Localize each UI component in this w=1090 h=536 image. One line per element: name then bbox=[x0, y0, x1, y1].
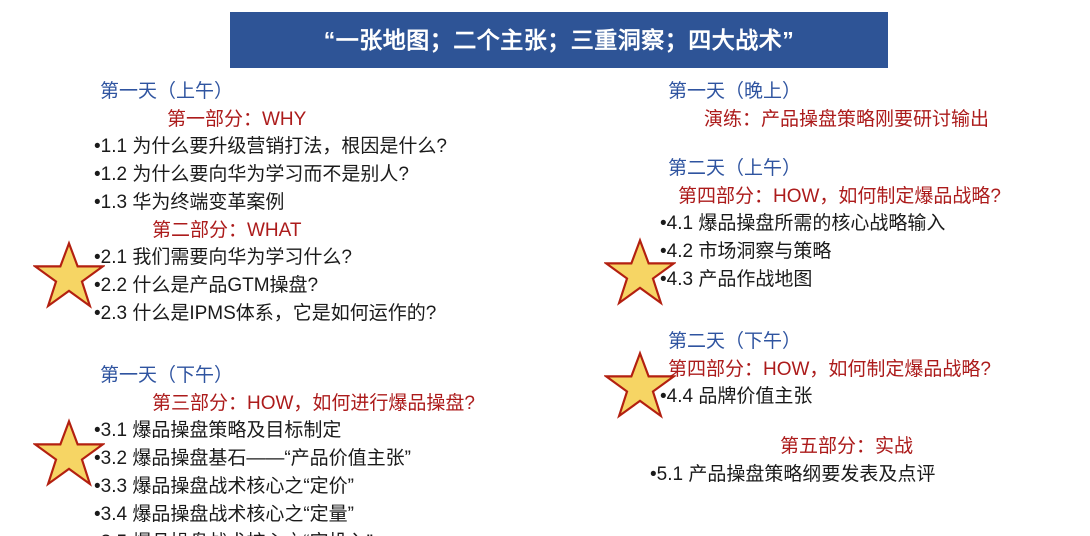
left-column: 第一天（上午） 第一部分：WHY •1.1 为什么要升级营销打法，根因是什么? … bbox=[22, 78, 542, 536]
title-banner: “一张地图；二个主张；三重洞察；四大战术” bbox=[230, 12, 888, 68]
day-heading-day1-afternoon: 第一天（下午） bbox=[100, 362, 542, 390]
spacer bbox=[600, 294, 1090, 328]
list-item: •3.3 爆品操盘战术核心之“定价” bbox=[94, 473, 542, 501]
list-item: •4.2 市场洞察与策略 bbox=[660, 238, 1090, 266]
list-item: •1.1 为什么要升级营销打法，根因是什么? bbox=[94, 133, 542, 161]
list-item: •3.5 爆品操盘战术核心之“定投入” bbox=[94, 529, 542, 536]
spacer bbox=[600, 411, 1090, 433]
block-day2-morning: 第二天（上午） 第四部分：HOW，如何制定爆品战略? •4.1 爆品操盘所需的核… bbox=[600, 155, 1090, 294]
list-item: •4.3 产品作战地图 bbox=[660, 266, 1090, 294]
list-item: •4.1 爆品操盘所需的核心战略输入 bbox=[660, 210, 1090, 238]
list-item: •4.4 品牌价值主张 bbox=[660, 383, 1090, 411]
list-item: •2.1 我们需要向华为学习什么? bbox=[94, 244, 542, 272]
page-title: “一张地图；二个主张；三重洞察；四大战术” bbox=[324, 29, 795, 52]
list-item: •2.2 什么是产品GTM操盘? bbox=[94, 272, 542, 300]
block-day1-afternoon: 第一天（下午） 第三部分：HOW，如何进行爆品操盘? •3.1 爆品操盘策略及目… bbox=[22, 362, 542, 536]
part-heading-how-strategy: 第四部分：HOW，如何制定爆品战略? bbox=[678, 183, 1090, 211]
block-day1-morning: 第一天（上午） 第一部分：WHY •1.1 为什么要升级营销打法，根因是什么? … bbox=[22, 78, 542, 328]
spacer bbox=[22, 328, 542, 362]
list-item: •1.3 华为终端变革案例 bbox=[94, 189, 542, 217]
slide-canvas: “一张地图；二个主张；三重洞察；四大战术” 第一天（上午） 第一部分：WHY •… bbox=[0, 0, 1090, 536]
list-item: •2.3 什么是IPMS体系，它是如何运作的? bbox=[94, 300, 542, 328]
list-item: •5.1 产品操盘策略纲要发表及点评 bbox=[650, 461, 1090, 489]
block-day2-afternoon: 第二天（下午） 第四部分：HOW，如何制定爆品战略? •4.4 品牌价值主张 第… bbox=[600, 328, 1090, 488]
day-heading-day1-morning: 第一天（上午） bbox=[100, 78, 542, 106]
right-column: 第一天（晚上） 演练：产品操盘策略刚要研讨输出 第二天（上午） 第四部分：HOW… bbox=[600, 78, 1090, 488]
part-heading-practice: 第五部分：实战 bbox=[780, 433, 1090, 461]
list-item: •3.2 爆品操盘基石——“产品价值主张” bbox=[94, 445, 542, 473]
day-heading-day2-morning: 第二天（上午） bbox=[668, 155, 1090, 183]
list-item: •1.2 为什么要向华为学习而不是别人? bbox=[94, 161, 542, 189]
part-heading-drill: 演练：产品操盘策略刚要研讨输出 bbox=[704, 106, 1090, 134]
list-item: •3.1 爆品操盘策略及目标制定 bbox=[94, 417, 542, 445]
part-heading-how-strategy-2: 第四部分：HOW，如何制定爆品战略? bbox=[668, 356, 1090, 384]
day-heading-day1-evening: 第一天（晚上） bbox=[668, 78, 1090, 106]
part-heading-why: 第一部分：WHY bbox=[167, 106, 542, 134]
part-heading-how-operate: 第三部分：HOW，如何进行爆品操盘? bbox=[152, 390, 542, 418]
list-item: •3.4 爆品操盘战术核心之“定量” bbox=[94, 501, 542, 529]
spacer bbox=[600, 133, 1090, 155]
day-heading-day2-afternoon: 第二天（下午） bbox=[668, 328, 1090, 356]
block-day1-evening: 第一天（晚上） 演练：产品操盘策略刚要研讨输出 bbox=[600, 78, 1090, 133]
part-heading-what: 第二部分：WHAT bbox=[152, 217, 542, 245]
